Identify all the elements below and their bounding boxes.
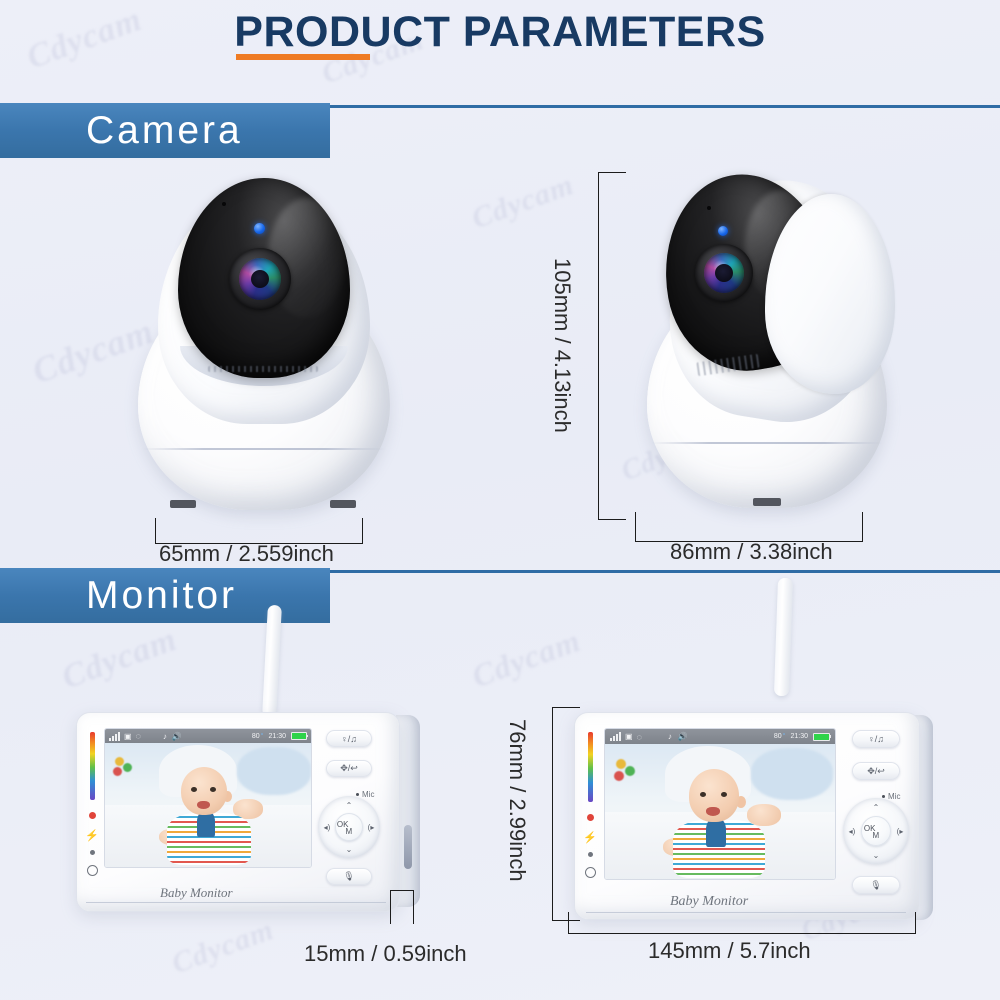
charge-icon: ⚡ [585, 830, 595, 844]
section-header-camera-label: Camera [86, 109, 243, 153]
scene-toy [616, 759, 626, 769]
clock-time: 21:30 [268, 733, 286, 740]
camera-foot [170, 500, 196, 508]
monitor-screen[interactable]: ▣ ◌ ♪ 🔊 80 ° 21:30 [604, 728, 836, 880]
video-feed-baby [105, 743, 311, 868]
music-note-icon: ♪ [163, 732, 167, 741]
power-button[interactable] [585, 867, 596, 878]
power-led-dot [89, 812, 96, 819]
light-music-button-label: ♀/♫ [868, 734, 884, 744]
dpad-down-button[interactable]: ⌄ [342, 843, 356, 855]
dpad-right-button[interactable]: (▸ [893, 825, 907, 837]
page-title-text: PRODUCT PARAMETERS [234, 8, 765, 56]
scene-pillow [751, 748, 833, 800]
light-music-button-label: ♀/♫ [341, 734, 357, 744]
monitor-antenna [774, 578, 793, 696]
monitor-screen[interactable]: ▣ ◌ ♪ 🔊 80 ° 21:30 [104, 728, 312, 868]
baby-eye [191, 787, 197, 792]
monitor-front-view: ⚡ ▣ ◌ ♪ 🔊 80 ° 21:30 [560, 570, 970, 930]
temperature-value: 80 [774, 733, 782, 740]
camera-icon: ▣ [625, 732, 633, 741]
dpad-control[interactable]: ⌃ ⌄ ◂) (▸ OK M [843, 798, 909, 864]
monitor-brand-text: Baby Monitor [670, 894, 748, 910]
camera-angled-width-bracket [635, 512, 863, 542]
camera-base-seam [142, 448, 386, 450]
camera-base-seam [651, 442, 883, 444]
scene-toy [113, 767, 122, 776]
degree-symbol: ° [261, 733, 264, 740]
camera-icon: ▣ [124, 732, 132, 741]
baby-eye [700, 792, 706, 797]
monitor-depth-label: 15mm / 0.59inch [304, 941, 467, 967]
dpad-down-button[interactable]: ⌄ [869, 849, 883, 861]
light-music-button[interactable]: ♀/♫ [852, 730, 900, 748]
scene-toy [614, 771, 624, 781]
dpad-up-label: ⌃ [873, 803, 880, 812]
camera-vent-grille [208, 366, 318, 372]
baby-arm [747, 804, 781, 826]
monitor-brand-text: Baby Monitor [160, 885, 233, 901]
baby-mouth [706, 807, 720, 816]
screen-status-bar: ▣ ◌ ♪ 🔊 80 ° 21:30 [105, 729, 311, 743]
page-title-wrap: PRODUCT PARAMETERS [0, 8, 1000, 57]
video-feed-baby [605, 744, 835, 880]
dpad-down-label: ⌄ [346, 845, 353, 854]
page-title: PRODUCT PARAMETERS [234, 8, 765, 57]
charge-icon: ⚡ [87, 828, 97, 842]
dpad-left-label: ◂) [849, 827, 856, 836]
screen-status-bar: ▣ ◌ ♪ 🔊 80 ° 21:30 [605, 729, 835, 744]
title-underline-accent [236, 54, 370, 60]
signal-bars-icon [109, 732, 120, 741]
talk-mic-button-label: 🎙 [870, 880, 881, 891]
dpad-right-button[interactable]: (▸ [364, 821, 378, 833]
talk-mic-button[interactable]: 🎙 [326, 868, 372, 885]
speaker-icon: 🔊 [678, 732, 688, 741]
pan-back-button[interactable]: ✥/↩ [326, 760, 372, 777]
watermark: Cdycam [467, 168, 578, 236]
dpad-ok-button[interactable]: OK M [335, 813, 363, 841]
pan-back-button-label: ✥/↩ [340, 763, 358, 774]
battery-full-icon [291, 732, 307, 740]
dpad-left-button[interactable]: ◂) [845, 825, 859, 837]
monitor-side-port [404, 825, 412, 869]
monitor-height-label: 76mm / 2.99inch [504, 719, 530, 882]
talk-mic-button[interactable]: 🎙 [852, 876, 900, 894]
camera-lens-core [715, 264, 733, 282]
scene-toy [123, 763, 132, 772]
scene-pillow [237, 747, 311, 795]
dpad-left-label: ◂) [324, 823, 331, 832]
camera-status-led [254, 223, 265, 234]
monitor-width-label: 145mm / 5.7inch [648, 938, 811, 964]
camera-height-bracket [598, 172, 626, 520]
signal-bars-icon [610, 732, 621, 741]
monitor-width-bracket [568, 912, 916, 934]
dpad-up-button[interactable]: ⌃ [869, 801, 883, 813]
camera-foot [330, 500, 356, 508]
dpad-menu-label: M [345, 827, 352, 836]
section-header-camera: Camera [0, 103, 330, 158]
led-indicator-strip [90, 732, 95, 800]
dpad-ok-button[interactable]: OK M [861, 816, 891, 846]
monitor-bottom-seam [86, 902, 386, 903]
dpad-up-label: ⌃ [346, 801, 353, 810]
baby-mouth [197, 801, 210, 809]
monitor-height-bracket [552, 707, 580, 921]
camera-mic-hole [707, 206, 711, 210]
dpad-left-button[interactable]: ◂) [320, 821, 334, 833]
camera-angled-view [625, 160, 905, 515]
power-led-dot [587, 814, 594, 821]
clock-time: 21:30 [790, 733, 808, 740]
baby-eye [210, 787, 216, 792]
monitor-antenna [262, 605, 282, 718]
dpad-menu-label: M [872, 831, 879, 840]
pan-back-button-label: ✥/↩ [867, 766, 885, 777]
battery-full-icon [813, 733, 830, 741]
scene-toy [625, 766, 635, 776]
dpad-control[interactable]: ⌃ ⌄ ◂) (▸ OK M [318, 796, 380, 858]
baby-eye [721, 792, 727, 797]
monitor-left-view: ⚡ ▣ ◌ ♪ 🔊 80 ° 21:30 [60, 600, 430, 930]
dpad-right-label: (▸ [368, 823, 375, 832]
camera-angled-height-label: 105mm / 4.13inch [549, 258, 575, 433]
monitor-depth-bracket [390, 890, 414, 924]
reset-dot [90, 850, 95, 855]
baby-collar [706, 818, 726, 847]
talk-mic-button-label: 🎙 [343, 871, 354, 882]
rotate-icon: ◌ [136, 731, 141, 741]
camera-status-led [718, 226, 728, 236]
music-note-icon: ♪ [668, 732, 672, 741]
light-music-button[interactable]: ♀/♫ [326, 730, 372, 747]
dpad-down-label: ⌄ [873, 851, 880, 860]
camera-foot [753, 498, 781, 506]
reset-dot [588, 852, 593, 857]
dpad-up-button[interactable]: ⌃ [342, 799, 356, 811]
camera-lens-core [251, 270, 269, 288]
degree-symbol: ° [783, 733, 786, 740]
camera-mic-hole [222, 202, 226, 206]
camera-front-width-label: 65mm / 2.559inch [159, 541, 334, 567]
camera-angled-width-label: 86mm / 3.38inch [670, 539, 833, 565]
dpad-right-label: (▸ [897, 827, 904, 836]
camera-section-rule [330, 105, 1000, 108]
temperature-value: 80 [252, 733, 260, 740]
camera-front-view [118, 168, 408, 513]
product-parameters-page: Cdycam Cdycam Cdycam Cdycam Cdycam Cdyca… [0, 0, 1000, 1000]
speaker-icon: 🔊 [172, 732, 182, 741]
rotate-icon: ◌ [637, 732, 642, 742]
pan-back-button[interactable]: ✥/↩ [852, 762, 900, 780]
power-button[interactable] [87, 865, 98, 876]
led-indicator-strip [588, 732, 593, 802]
